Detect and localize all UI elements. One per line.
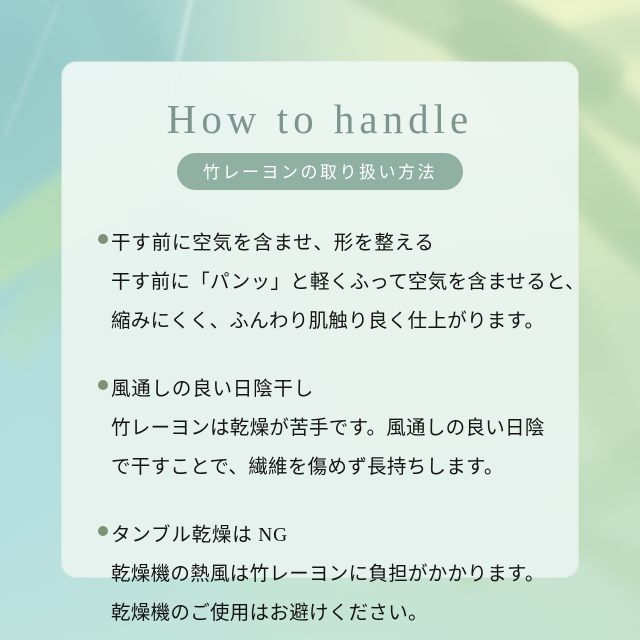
list-item: タンブル乾燥は NG 乾燥機の熱風は竹レーヨンに負担がかかります。 乾燥機のご使…	[98, 516, 548, 633]
list-item-heading-row: 干す前に空気を含ませ、形を整える	[98, 224, 548, 263]
list-item-heading: 干す前に空気を含ませ、形を整える	[111, 224, 435, 263]
list-item-heading: 風通しの良い日陰干し	[111, 370, 314, 409]
list-item-body: 干す前に「パンッ」と軽くふって空気を含ませると、 縮みにくく、ふんわり肌触り良く…	[98, 263, 548, 341]
content-card: How to handle 竹レーヨンの取り扱い方法 干す前に空気を含ませ、形を…	[62, 62, 578, 577]
list-item-body-line: 竹レーヨンは乾燥が苦手です。風通しの良い日陰	[111, 409, 548, 448]
list-item-heading-row: 風通しの良い日陰干し	[98, 370, 548, 409]
bullet-dot-icon	[98, 234, 108, 244]
list-item-body-line: 乾燥機の熱風は竹レーヨンに負担がかかります。	[111, 555, 548, 594]
instruction-list: 干す前に空気を含ませ、形を整える 干す前に「パンッ」と軽くふって空気を含ませると…	[92, 224, 548, 633]
subtitle-badge: 竹レーヨンの取り扱い方法	[177, 153, 463, 190]
list-item-body-line: 乾燥機のご使用はお避けください。	[111, 594, 548, 633]
list-item-body-line: で干すことで、繊維を傷めず長持ちします。	[111, 448, 548, 487]
bullet-dot-icon	[98, 526, 108, 536]
bullet-dot-icon	[98, 380, 108, 390]
list-item-body-line: 干す前に「パンッ」と軽くふって空気を含ませると、	[111, 263, 548, 302]
list-item-body: 竹レーヨンは乾燥が苦手です。風通しの良い日陰 で干すことで、繊維を傷めず長持ちし…	[98, 409, 548, 487]
list-item-heading-row: タンブル乾燥は NG	[98, 516, 548, 555]
list-item-body-line: 縮みにくく、ふんわり肌触り良く仕上がります。	[111, 302, 548, 341]
list-item-heading: タンブル乾燥は NG	[111, 516, 288, 555]
list-item: 風通しの良い日陰干し 竹レーヨンは乾燥が苦手です。風通しの良い日陰 で干すことで…	[98, 370, 548, 487]
list-item: 干す前に空気を含ませ、形を整える 干す前に「パンッ」と軽くふって空気を含ませると…	[98, 224, 548, 341]
subtitle-badge-row: 竹レーヨンの取り扱い方法	[92, 153, 548, 190]
page-title: How to handle	[92, 98, 548, 141]
list-item-body: 乾燥機の熱風は竹レーヨンに負担がかかります。 乾燥機のご使用はお避けください。	[98, 555, 548, 633]
